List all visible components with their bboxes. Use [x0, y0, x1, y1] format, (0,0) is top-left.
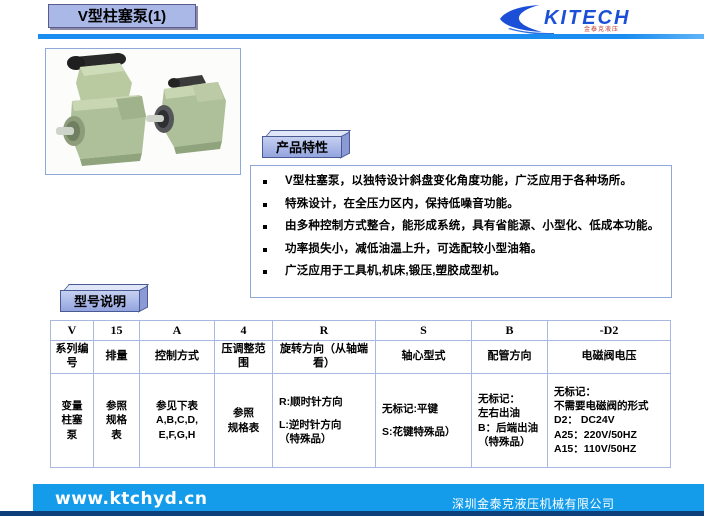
bullet-icon — [263, 180, 267, 184]
model-callout-face: 型号说明 — [60, 290, 140, 312]
bullet-icon — [263, 225, 267, 229]
cell-name: 旋转方向（从轴端看） — [273, 341, 376, 374]
cell-desc: R:顺时针方向L:逆时针方向（特殊品） — [273, 374, 376, 468]
kitech-logo: KITECH 金泰克液压 — [498, 2, 698, 36]
cell-code: -D2 — [548, 321, 671, 341]
model-callout: 型号说明 — [60, 284, 152, 314]
feature-text: 特殊设计，在全压力区内，保持低噪音功能。 — [285, 197, 519, 213]
table-row-descriptions: 变量柱塞泵 参照规格表 参见下表A,B,C,D,E,F,G,H 参照规格表 R:… — [51, 374, 671, 468]
feature-item: 功率损失小，减低油温上升，可选配较小型油箱。 — [261, 242, 665, 258]
table-row-codes: V 15 A 4 R S B -D2 — [51, 321, 671, 341]
cell-desc: 无标记:平键S:花键特殊品） — [376, 374, 472, 468]
cell-code: 4 — [215, 321, 273, 341]
model-callout-label: 型号说明 — [74, 295, 126, 308]
footer-company-name: 深圳金泰克液压机械有限公司 — [452, 495, 615, 512]
cell-code: V — [51, 321, 94, 341]
cell-code: S — [376, 321, 472, 341]
cell-desc: 参见下表A,B,C,D,E,F,G,H — [140, 374, 215, 468]
bullet-icon — [263, 270, 267, 274]
cell-name: 系列编号 — [51, 341, 94, 374]
cell-name: 轴心型式 — [376, 341, 472, 374]
feature-item: 广泛应用于工具机,机床,锻压,塑胶成型机。 — [261, 264, 665, 280]
cell-desc: 无标记：左右出油B：后端出油（特殊品） — [472, 374, 548, 468]
cell-name: 压调整范围 — [215, 341, 273, 374]
product-photo-frame — [45, 48, 241, 175]
cell-code: A — [140, 321, 215, 341]
feature-item: 特殊设计，在全压力区内，保持低噪音功能。 — [261, 197, 665, 213]
features-callout-face: 产品特性 — [262, 136, 342, 158]
cell-name: 电磁阀电压 — [548, 341, 671, 374]
slide-root: V型柱塞泵(1) KITECH 金泰克液压 — [0, 0, 704, 516]
pump-photo-image — [46, 49, 240, 174]
features-callout-label: 产品特性 — [276, 141, 328, 154]
cell-desc: 变量柱塞泵 — [51, 374, 94, 468]
cell-name: 排量 — [94, 341, 140, 374]
feature-text: 功率损失小，减低油温上升，可选配较小型油箱。 — [285, 242, 542, 258]
cell-code: R — [273, 321, 376, 341]
model-spec-table: V 15 A 4 R S B -D2 系列编号 排量 控制方式 压调整范围 旋转… — [50, 320, 671, 468]
feature-item: 由多种控制方式整合，能形成系统，具有省能源、小型化、低成本功能。 — [261, 219, 665, 235]
slide-title-button[interactable]: V型柱塞泵(1) — [48, 4, 196, 28]
feature-item: V型柱塞泵，以独特设计斜盘变化角度功能，广泛应用于各种场所。 — [261, 174, 665, 190]
table-row-names: 系列编号 排量 控制方式 压调整范围 旋转方向（从轴端看） 轴心型式 配管方向 … — [51, 341, 671, 374]
logo-subtitle: 金泰克液压 — [584, 24, 619, 33]
features-panel: V型柱塞泵，以独特设计斜盘变化角度功能，广泛应用于各种场所。 特殊设计，在全压力… — [250, 165, 672, 298]
cell-name: 配管方向 — [472, 341, 548, 374]
bullet-icon — [263, 248, 267, 252]
cell-desc: 无标记：不需要电磁阀的形式D2： DC24VA25：220V/50HZA15：1… — [548, 374, 671, 468]
cell-name: 控制方式 — [140, 341, 215, 374]
cell-code: B — [472, 321, 548, 341]
cell-desc: 参照规格表 — [215, 374, 273, 468]
features-callout: 产品特性 — [262, 130, 354, 160]
footer-bottom-rule — [0, 511, 704, 516]
page-title: V型柱塞泵(1) — [78, 9, 166, 24]
feature-text: 广泛应用于工具机,机床,锻压,塑胶成型机。 — [285, 264, 506, 280]
footer-website-url[interactable]: www.ktchyd.cn — [55, 489, 208, 509]
bullet-icon — [263, 203, 267, 207]
feature-text: 由多种控制方式整合，能形成系统，具有省能源、小型化、低成本功能。 — [285, 219, 659, 235]
feature-text: V型柱塞泵，以独特设计斜盘变化角度功能，广泛应用于各种场所。 — [285, 174, 632, 190]
cell-code: 15 — [94, 321, 140, 341]
header-divider — [38, 34, 704, 39]
cell-desc: 参照规格表 — [94, 374, 140, 468]
